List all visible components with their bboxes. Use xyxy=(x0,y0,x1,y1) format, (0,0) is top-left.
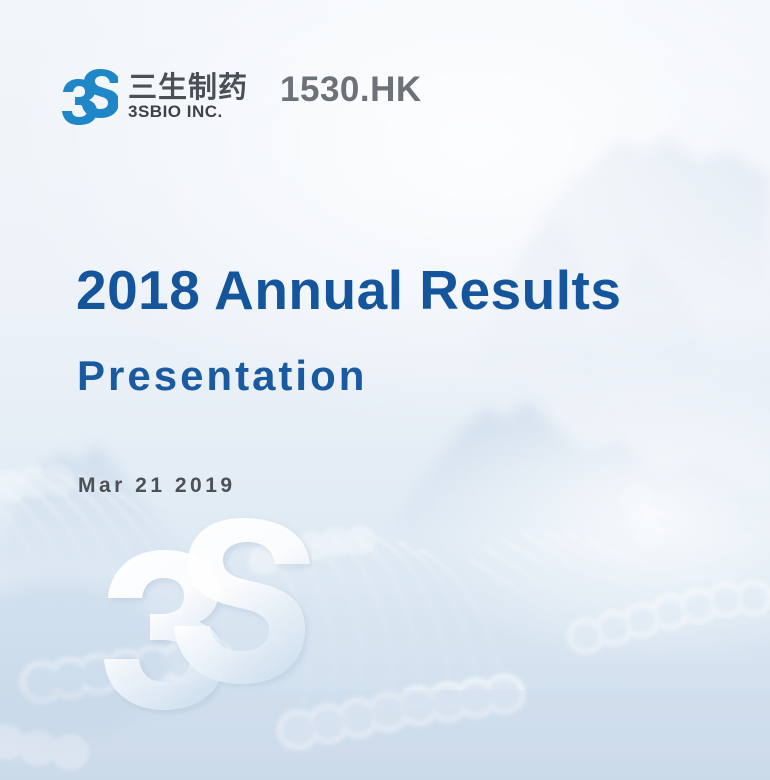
mountain-range-left xyxy=(0,444,210,600)
page-subtitle: Presentation xyxy=(77,352,367,400)
mountain-range-middle xyxy=(360,400,770,560)
slide-header: 三生制药 3SBIO INC. 1530.HK xyxy=(62,68,422,126)
dna-helix-graphic xyxy=(0,464,770,770)
stock-ticker: 1530.HK xyxy=(280,70,422,110)
company-wordmark: 三生制药 3SBIO INC. xyxy=(128,72,248,122)
presentation-title-slide: 三生制药 3SBIO INC. 1530.HK 2018 Annual Resu… xyxy=(0,0,770,780)
company-name-en: 3SBIO INC. xyxy=(128,103,248,122)
3s-logo-icon xyxy=(62,68,118,126)
3s-watermark xyxy=(102,512,312,737)
presentation-date: Mar 21 2019 xyxy=(78,474,236,498)
bottom-left-glow xyxy=(0,580,170,740)
company-name-cn: 三生制药 xyxy=(128,72,248,102)
3s-watermark-icon xyxy=(102,512,312,737)
page-title: 2018 Annual Results xyxy=(76,258,621,322)
